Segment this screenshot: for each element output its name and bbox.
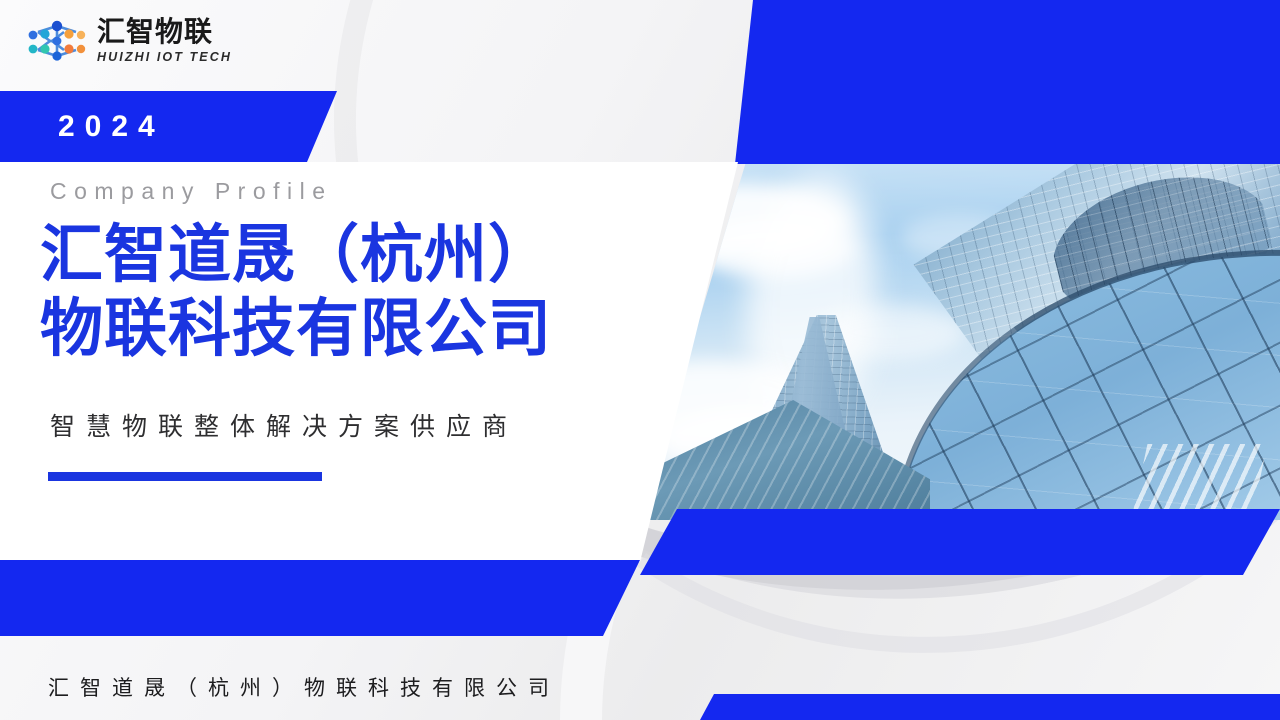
blue-band-top-right <box>735 0 1280 164</box>
tagline: 智慧物联整体解决方案供应商 <box>50 407 518 443</box>
node-dot <box>64 44 73 53</box>
node-dot <box>29 30 38 39</box>
blue-band-bottom-left <box>0 560 640 636</box>
node-dot <box>64 29 73 38</box>
node-dot <box>77 45 85 53</box>
company-logo: 汇智物联 HUIZHI IOT TECH <box>26 18 232 64</box>
node-dot <box>40 44 49 53</box>
node-dot <box>53 36 62 45</box>
page-title: 汇智道晟（杭州） 物联科技有限公司 <box>40 218 700 367</box>
node-dot <box>40 29 49 38</box>
node-dot <box>29 44 38 53</box>
logo-text-block: 汇智物联 HUIZHI IOT TECH <box>97 18 232 64</box>
molecular-network-icon <box>26 19 88 63</box>
node-dot <box>52 21 62 31</box>
cover-slide: 2024 汇智物联 HUIZHI I <box>0 0 1280 720</box>
blue-band-corner <box>700 694 1280 720</box>
node-dot <box>52 51 61 60</box>
glass-glare <box>1133 444 1268 514</box>
logo-chinese-name: 汇智物联 <box>97 18 232 46</box>
year-label: 2024 <box>58 110 165 144</box>
accent-rule <box>48 472 322 481</box>
node-dot <box>77 31 85 39</box>
logo-english-name: HUIZHI IOT TECH <box>97 51 232 64</box>
footer-company-name: 汇智道晟（杭州）物联科技有限公司 <box>48 672 560 702</box>
blue-band-bottom-right <box>640 509 1280 575</box>
year-badge: 2024 <box>0 91 337 162</box>
eyebrow-label: Company Profile <box>50 178 333 205</box>
